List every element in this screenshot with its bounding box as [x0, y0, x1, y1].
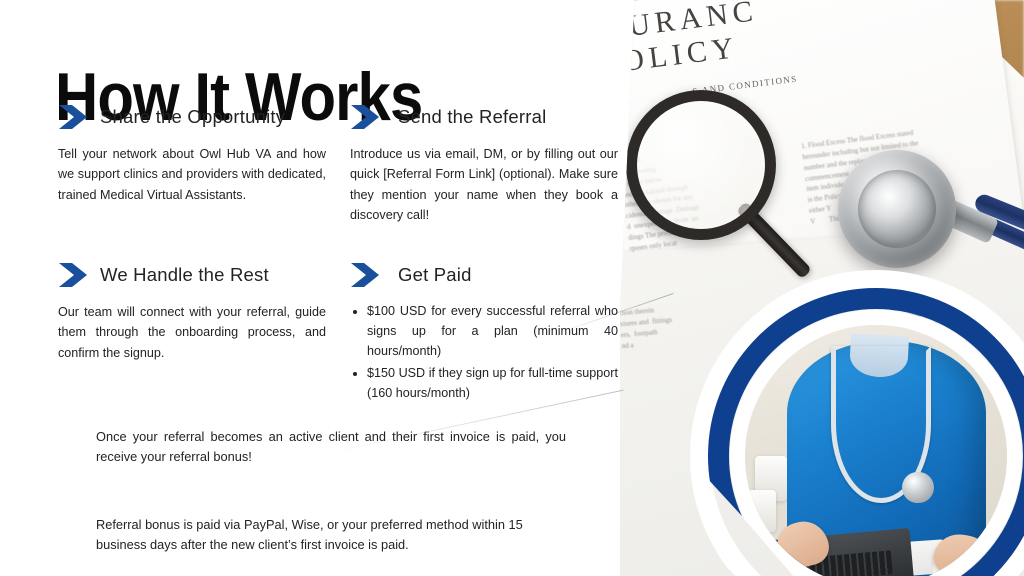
magnifier-lens: [626, 90, 776, 240]
step-share-the-opportunity: Share the Opportunity Tell your network …: [58, 104, 326, 205]
step-title: We Handle the Rest: [100, 264, 269, 286]
step-header: Share the Opportunity: [58, 104, 326, 130]
step-header: We Handle the Rest: [58, 262, 326, 288]
medical-assistant-photo: [745, 325, 1007, 576]
step-send-the-referral: Send the Referral Introduce us via email…: [350, 104, 618, 226]
step-title: Send the Referral: [398, 106, 546, 128]
step-get-paid: Get Paid $100 USD for every successful r…: [350, 262, 618, 405]
magnifying-glass-icon: [626, 90, 776, 240]
stethoscope-chestpiece: [838, 150, 956, 268]
note-payout-method: Referral bonus is paid via PayPal, Wise,…: [96, 515, 566, 556]
chevron-right-icon: [58, 104, 88, 130]
step-body: Our team will connect with your referral…: [58, 302, 326, 363]
stethoscope-chestpiece: [902, 472, 933, 503]
chevron-right-icon: [58, 262, 88, 288]
list-item: $100 USD for every successful referral w…: [367, 302, 618, 362]
medical-assistant-photo-cluster: [690, 270, 1024, 576]
slide-canvas: URANC OLICY S AND CONDITIONS TION 1. he …: [0, 0, 1024, 576]
payout-list: $100 USD for every successful referral w…: [350, 302, 618, 403]
step-header: Get Paid: [350, 262, 618, 288]
note-referral-bonus-trigger: Once your referral becomes an active cli…: [96, 427, 566, 468]
chevron-right-icon: [350, 104, 380, 130]
right-photo-column: URANC OLICY S AND CONDITIONS TION 1. he …: [620, 0, 1024, 576]
step-body: Tell your network about Owl Hub VA and h…: [58, 144, 326, 205]
chevron-right-icon: [350, 262, 380, 288]
list-item: $150 USD if they sign up for full-time s…: [367, 364, 618, 404]
step-header: Send the Referral: [350, 104, 618, 130]
step-we-handle-the-rest: We Handle the Rest Our team will connect…: [58, 262, 326, 363]
step-title: Get Paid: [398, 264, 472, 286]
step-body: Introduce us via email, DM, or by fillin…: [350, 144, 618, 226]
step-title: Share the Opportunity: [100, 106, 285, 128]
pill-bottle: [748, 490, 777, 532]
